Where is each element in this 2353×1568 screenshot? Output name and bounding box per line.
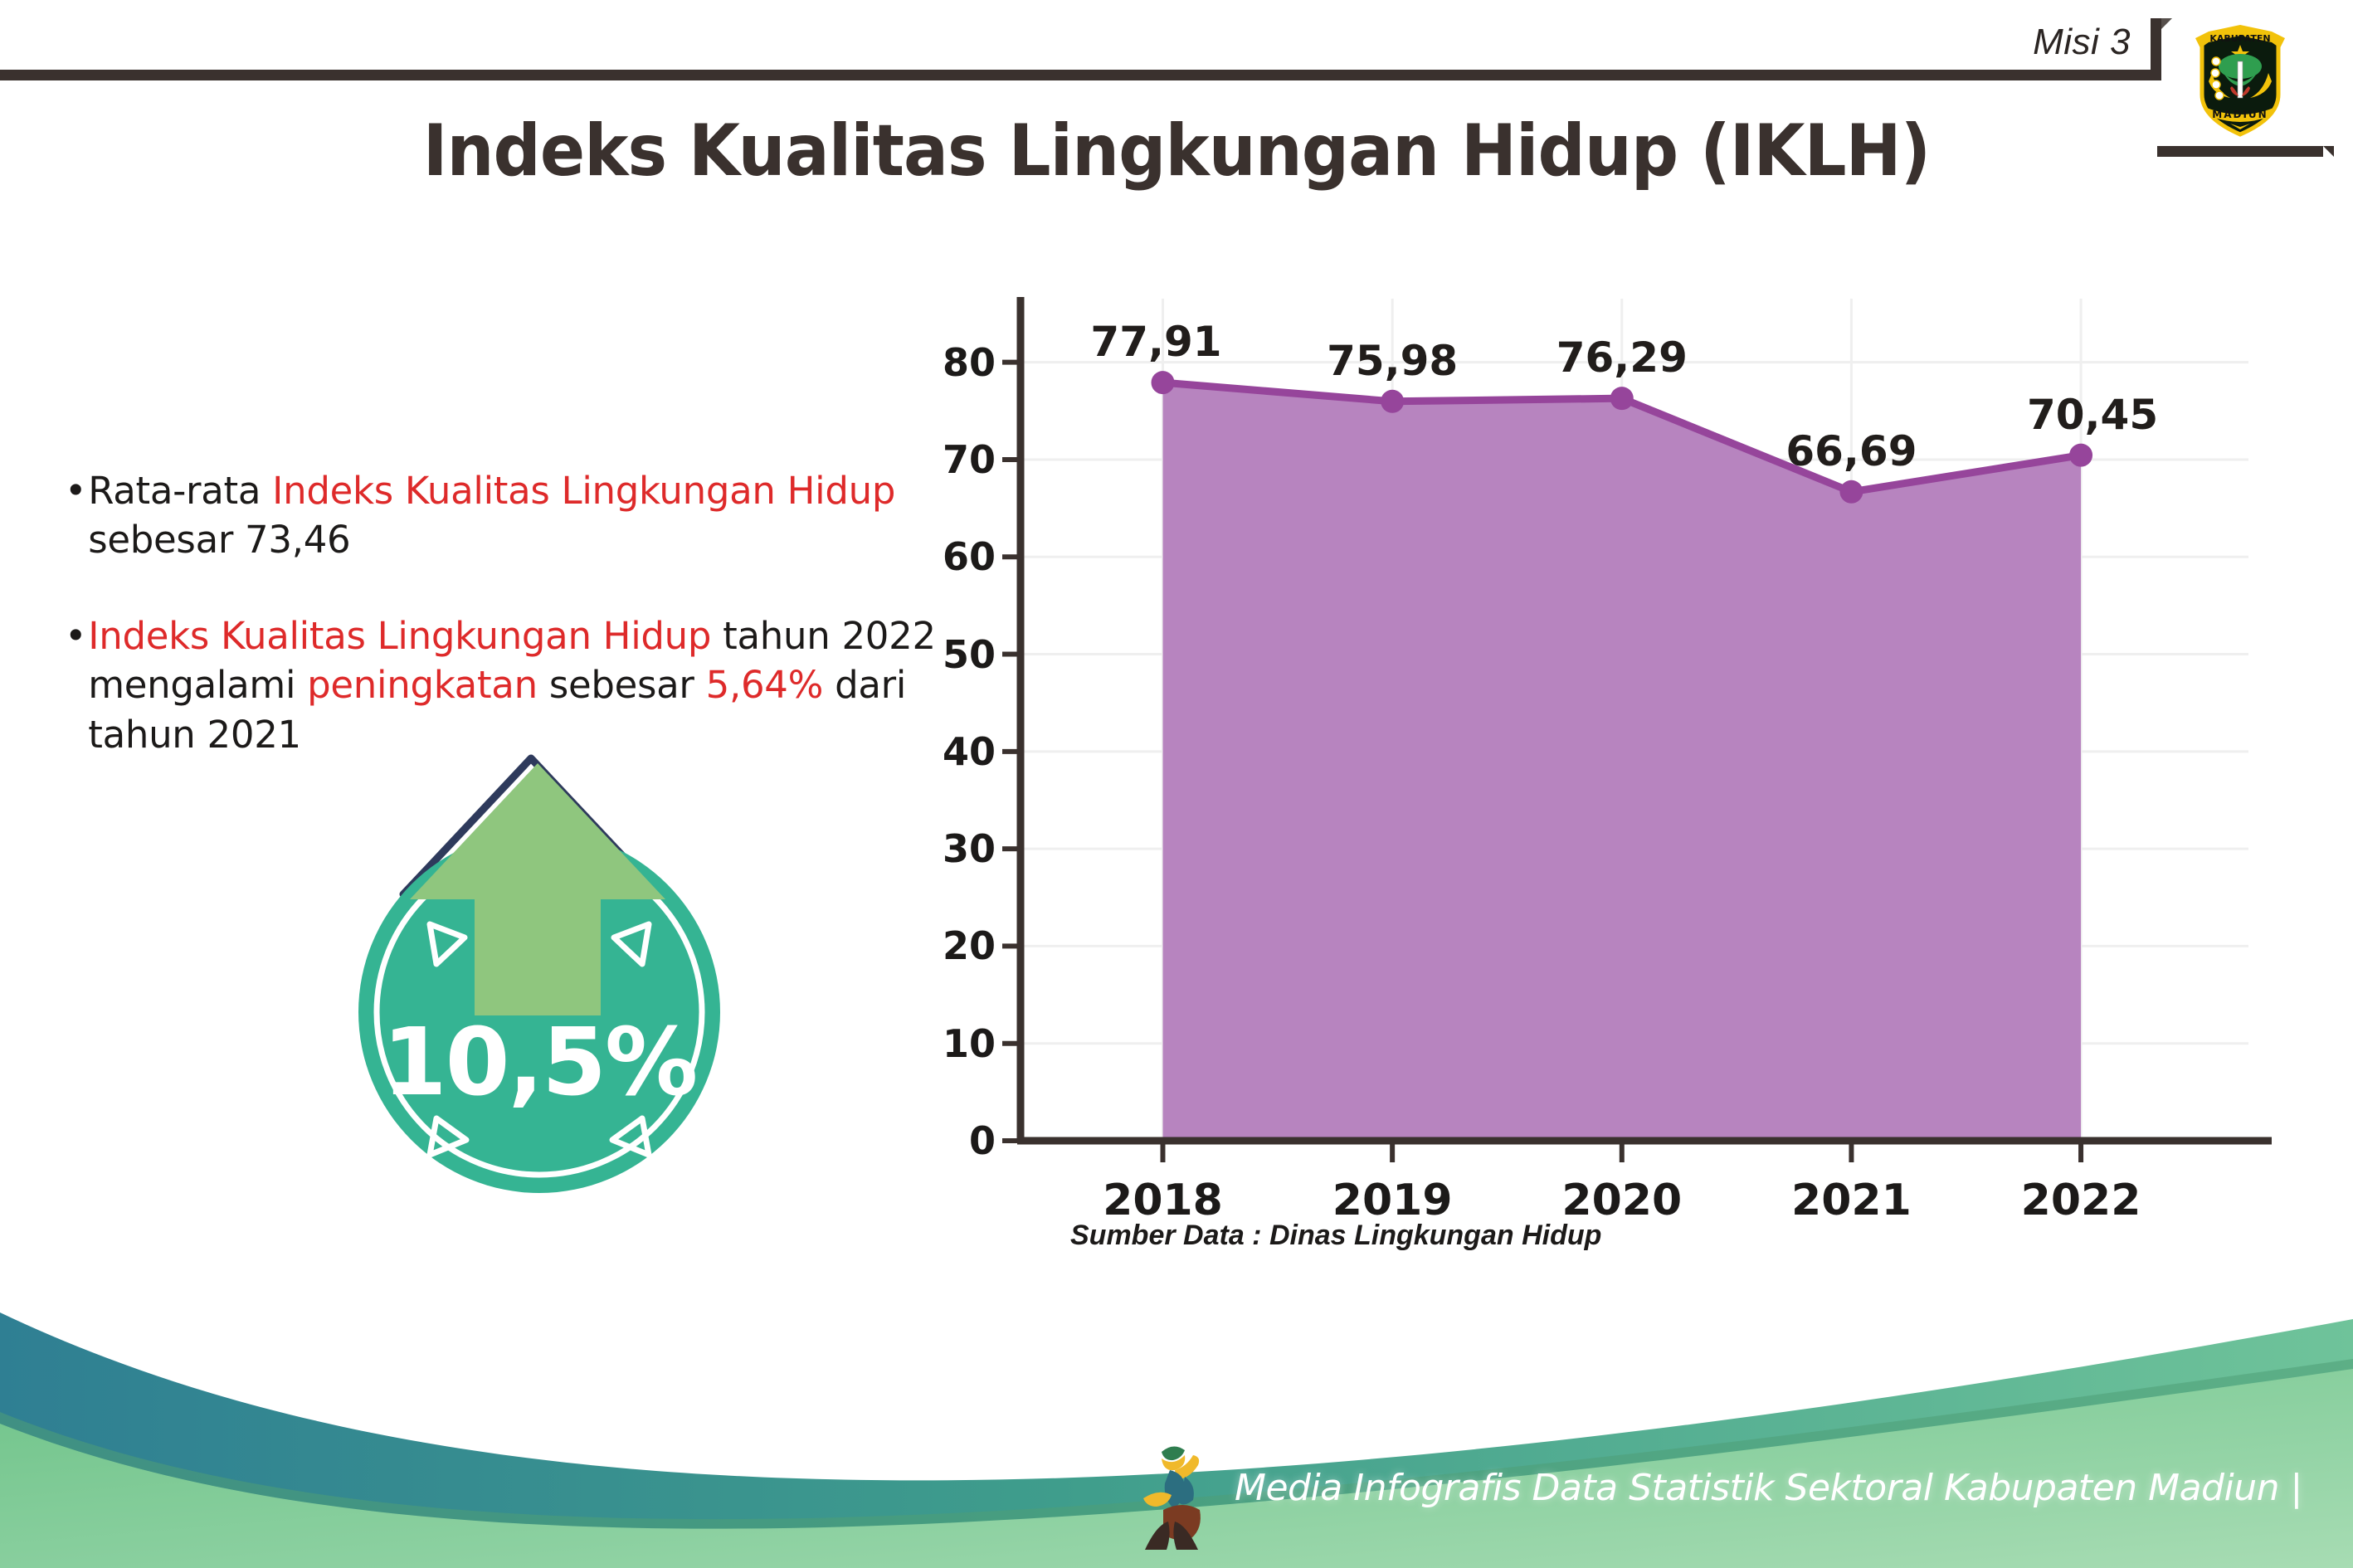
chart-area-fill (1163, 382, 2082, 1141)
chart-data-label: 70,45 (2027, 391, 2158, 439)
page-title: Indeks Kualitas Lingkungan Hidup (IKLH) (82, 110, 2270, 192)
chart-marker (1610, 387, 1634, 410)
chart-x-tick-label: 2019 (1332, 1176, 1453, 1225)
highlight-text: Indeks Kualitas Lingkungan Hidup (88, 614, 711, 658)
chart-data-label: 77,91 (1090, 318, 1221, 366)
bullet-item-0: • Rata-rata Indeks Kualitas Lingkungan H… (65, 466, 969, 565)
chart-y-tick-label: 0 (904, 1118, 996, 1163)
chart-x-tick-label: 2018 (1103, 1176, 1223, 1225)
chart-y-tick-label: 10 (904, 1021, 996, 1066)
increase-badge: 10,5% (324, 747, 755, 1211)
chart-y-tick-label: 70 (904, 437, 996, 482)
chart-y-tick-label: 20 (904, 923, 996, 968)
header-rule (0, 70, 2151, 80)
plain-text: Rata-rata (88, 469, 272, 513)
highlight-text: 5,64% (706, 663, 823, 707)
iklh-area-chart: 01020304050607080 20182019202020212022 7… (979, 290, 2273, 1186)
chart-y-tick-label: 50 (904, 632, 996, 677)
chart-y-tick-label: 80 (904, 340, 996, 385)
source-note: Sumber Data : Dinas Lingkungan Hidup (1070, 1220, 1601, 1252)
chart-data-label: 76,29 (1556, 334, 1688, 382)
chart-x-tick-label: 2022 (2021, 1176, 2141, 1225)
plain-text: sebesar 73,46 (88, 518, 350, 562)
chart-x-tick-label: 2020 (1561, 1176, 1682, 1225)
misi-label: Misi 3 (2033, 22, 2131, 63)
chart-y-tick-label: 40 (904, 729, 996, 774)
highlight-text: peningkatan (307, 663, 538, 707)
highlight-text: Indeks Kualitas Lingkungan Hidup (272, 469, 895, 513)
bullet-item-1: • Indeks Kualitas Lingkungan Hidup tahun… (65, 611, 969, 759)
chart-marker (2069, 444, 2092, 467)
chart-marker (1381, 390, 1404, 413)
bullet-dot-icon: • (65, 466, 86, 515)
svg-text:KABUPATEN: KABUPATEN (2209, 33, 2270, 44)
bullet-dot-icon: • (65, 611, 86, 660)
chart-marker (1839, 480, 1863, 504)
chart-marker (1152, 371, 1175, 394)
bullet-text: Rata-rata Indeks Kualitas Lingkungan Hid… (88, 466, 969, 565)
chart-y-tick-label: 60 (904, 534, 996, 579)
header-rule-corner (2151, 18, 2161, 80)
chart-y-tick-label: 30 (904, 826, 996, 871)
footer-caption: Media Infografis Data Statistik Sektoral… (1235, 1467, 2302, 1509)
plain-text: sebesar (538, 663, 706, 707)
bullet-text: Indeks Kualitas Lingkungan Hidup tahun 2… (88, 611, 969, 759)
badge-graphic (324, 747, 755, 1211)
chart-data-label: 75,98 (1327, 337, 1458, 385)
chart-data-label: 66,69 (1785, 427, 1917, 475)
pencak-silat-figure-icon (1138, 1434, 1230, 1558)
chart-x-tick-label: 2021 (1791, 1176, 1912, 1225)
